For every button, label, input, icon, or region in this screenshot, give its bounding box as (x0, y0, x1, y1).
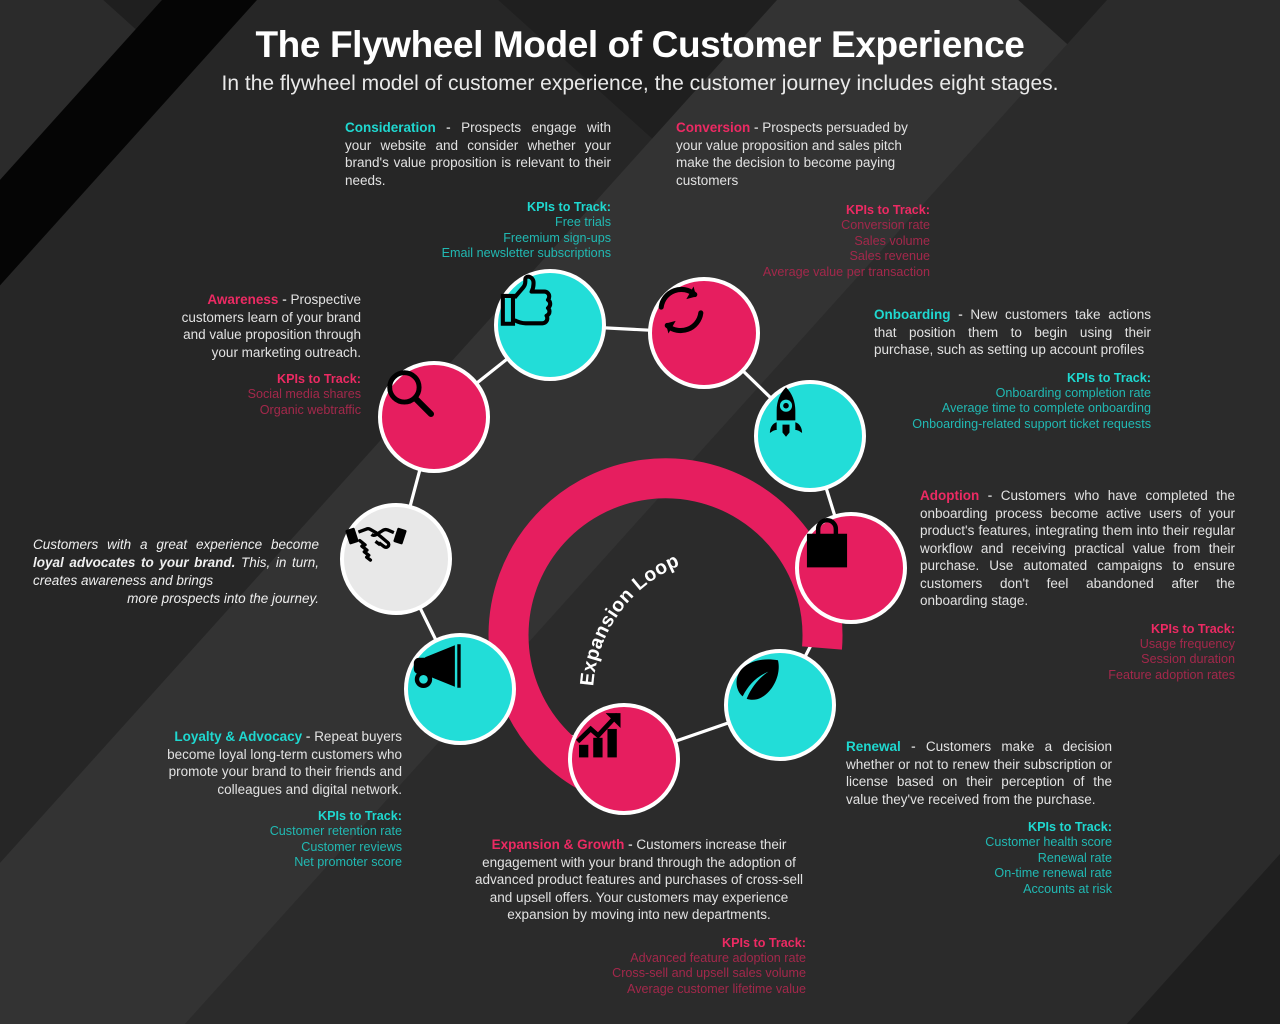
awareness-lead: Awareness (207, 292, 278, 307)
wheel-node-renewal[interactable] (724, 649, 836, 761)
adoption-lead: Adoption (920, 488, 979, 503)
kpi-item: Customer reviews (140, 840, 402, 855)
kpi-item: Customer health score (846, 835, 1112, 850)
onboarding-dash: - (958, 307, 963, 322)
kpi-item: Renewal rate (846, 851, 1112, 866)
advocacy-note-part3: more prospects into the journey. (33, 590, 319, 608)
wheel-node-awareness[interactable] (378, 361, 490, 473)
wheel-node-expansion[interactable] (568, 703, 680, 815)
kpi-item: Feature adoption rates (920, 668, 1235, 683)
expansion-loop-label: Expansion Loop (576, 550, 682, 687)
stage-block-adoption: Adoption - Customers who have completed … (920, 487, 1235, 683)
adoption-body: Customers who have completed the onboard… (920, 488, 1235, 608)
kpi-item: Session duration (920, 652, 1235, 667)
advocacy-note: Customers with a great experience become… (33, 536, 319, 608)
expansion-lead: Expansion & Growth (492, 837, 625, 852)
conversion-lead: Conversion (676, 120, 750, 135)
adoption-dash: - (988, 488, 993, 503)
renewal-kpis: KPIs to Track: Customer health score Ren… (846, 820, 1112, 897)
kpi-heading: KPIs to Track: (472, 936, 806, 951)
kpi-item: Onboarding-related support ticket reques… (874, 417, 1151, 432)
page-title: The Flywheel Model of Customer Experienc… (0, 24, 1280, 66)
kpi-item: Conversion rate (676, 218, 930, 233)
kpi-heading: KPIs to Track: (874, 371, 1151, 386)
loyalty-dash: - (306, 729, 311, 744)
flywheel-diagram: Expansion Loop (330, 255, 900, 825)
refresh-cycle-icon (652, 281, 710, 339)
growth-chart-icon (572, 707, 628, 763)
kpi-item: Net promoter score (140, 855, 402, 870)
kpi-item: Sales volume (676, 234, 930, 249)
rocket-icon (758, 384, 814, 440)
awareness-dash: - (282, 292, 287, 307)
advocacy-note-bold: loyal advocates to your brand. (33, 555, 235, 570)
consideration-lead: Consideration (345, 120, 436, 135)
kpi-item: Free trials (345, 215, 611, 230)
kpi-item: Average time to complete onboarding (874, 401, 1151, 416)
kpi-item: Cross-sell and upsell sales volume (472, 966, 806, 981)
adoption-description: Adoption - Customers who have completed … (920, 487, 1235, 610)
wheel-node-adoption[interactable] (795, 512, 907, 624)
kpi-item: Usage frequency (920, 637, 1235, 652)
stage-block-expansion: Expansion & Growth - Customers increase … (472, 836, 806, 997)
handshake-icon (344, 507, 408, 571)
kpi-item: On-time renewal rate (846, 866, 1112, 881)
infographic-canvas: The Flywheel Model of Customer Experienc… (0, 0, 1280, 1024)
consideration-kpis: KPIs to Track: Free trials Freemium sign… (345, 200, 611, 262)
onboarding-kpis: KPIs to Track: Onboarding completion rat… (874, 371, 1151, 433)
kpi-heading: KPIs to Track: (676, 203, 930, 218)
consideration-description: Consideration - Prospects engage with yo… (345, 119, 611, 189)
advocacy-note-part1: Customers with a great experience become (33, 537, 319, 552)
kpi-item: Average customer lifetime value (472, 982, 806, 997)
megaphone-icon (408, 637, 466, 695)
kpi-heading: KPIs to Track: (345, 200, 611, 215)
stage-block-onboarding: Onboarding - New customers take actions … (874, 306, 1151, 432)
kpi-item: Onboarding completion rate (874, 386, 1151, 401)
wheel-node-advocacy[interactable] (340, 503, 452, 615)
expansion-description: Expansion & Growth - Customers increase … (472, 836, 806, 924)
onboarding-description: Onboarding - New customers take actions … (874, 306, 1151, 359)
leaf-icon (728, 653, 784, 709)
kpi-heading: KPIs to Track: (920, 622, 1235, 637)
thumbs-up-icon (498, 273, 556, 331)
consideration-dash: - (446, 120, 451, 135)
conversion-description: Conversion - Prospects persuaded by your… (676, 119, 930, 189)
shopping-bag-icon (799, 516, 855, 572)
wheel-node-onboarding[interactable] (754, 380, 866, 492)
page-subtitle: In the flywheel model of customer experi… (0, 72, 1280, 96)
kpi-item: Customer retention rate (140, 824, 402, 839)
wheel-node-consideration[interactable] (494, 269, 606, 381)
stage-block-consideration: Consideration - Prospects engage with yo… (345, 119, 611, 262)
wheel-node-loyalty[interactable] (404, 633, 516, 745)
conversion-dash: - (754, 120, 759, 135)
kpi-item: Advanced feature adoption rate (472, 951, 806, 966)
expansion-dash: - (628, 837, 633, 852)
expansion-kpis: KPIs to Track: Advanced feature adoption… (472, 936, 806, 998)
kpi-item: Accounts at risk (846, 882, 1112, 897)
adoption-kpis: KPIs to Track: Usage frequency Session d… (920, 622, 1235, 684)
renewal-dash: - (911, 739, 916, 754)
loyalty-lead: Loyalty & Advocacy (174, 729, 302, 744)
kpi-item: Freemium sign-ups (345, 231, 611, 246)
magnifier-icon (382, 365, 438, 421)
wheel-node-conversion[interactable] (648, 277, 760, 389)
